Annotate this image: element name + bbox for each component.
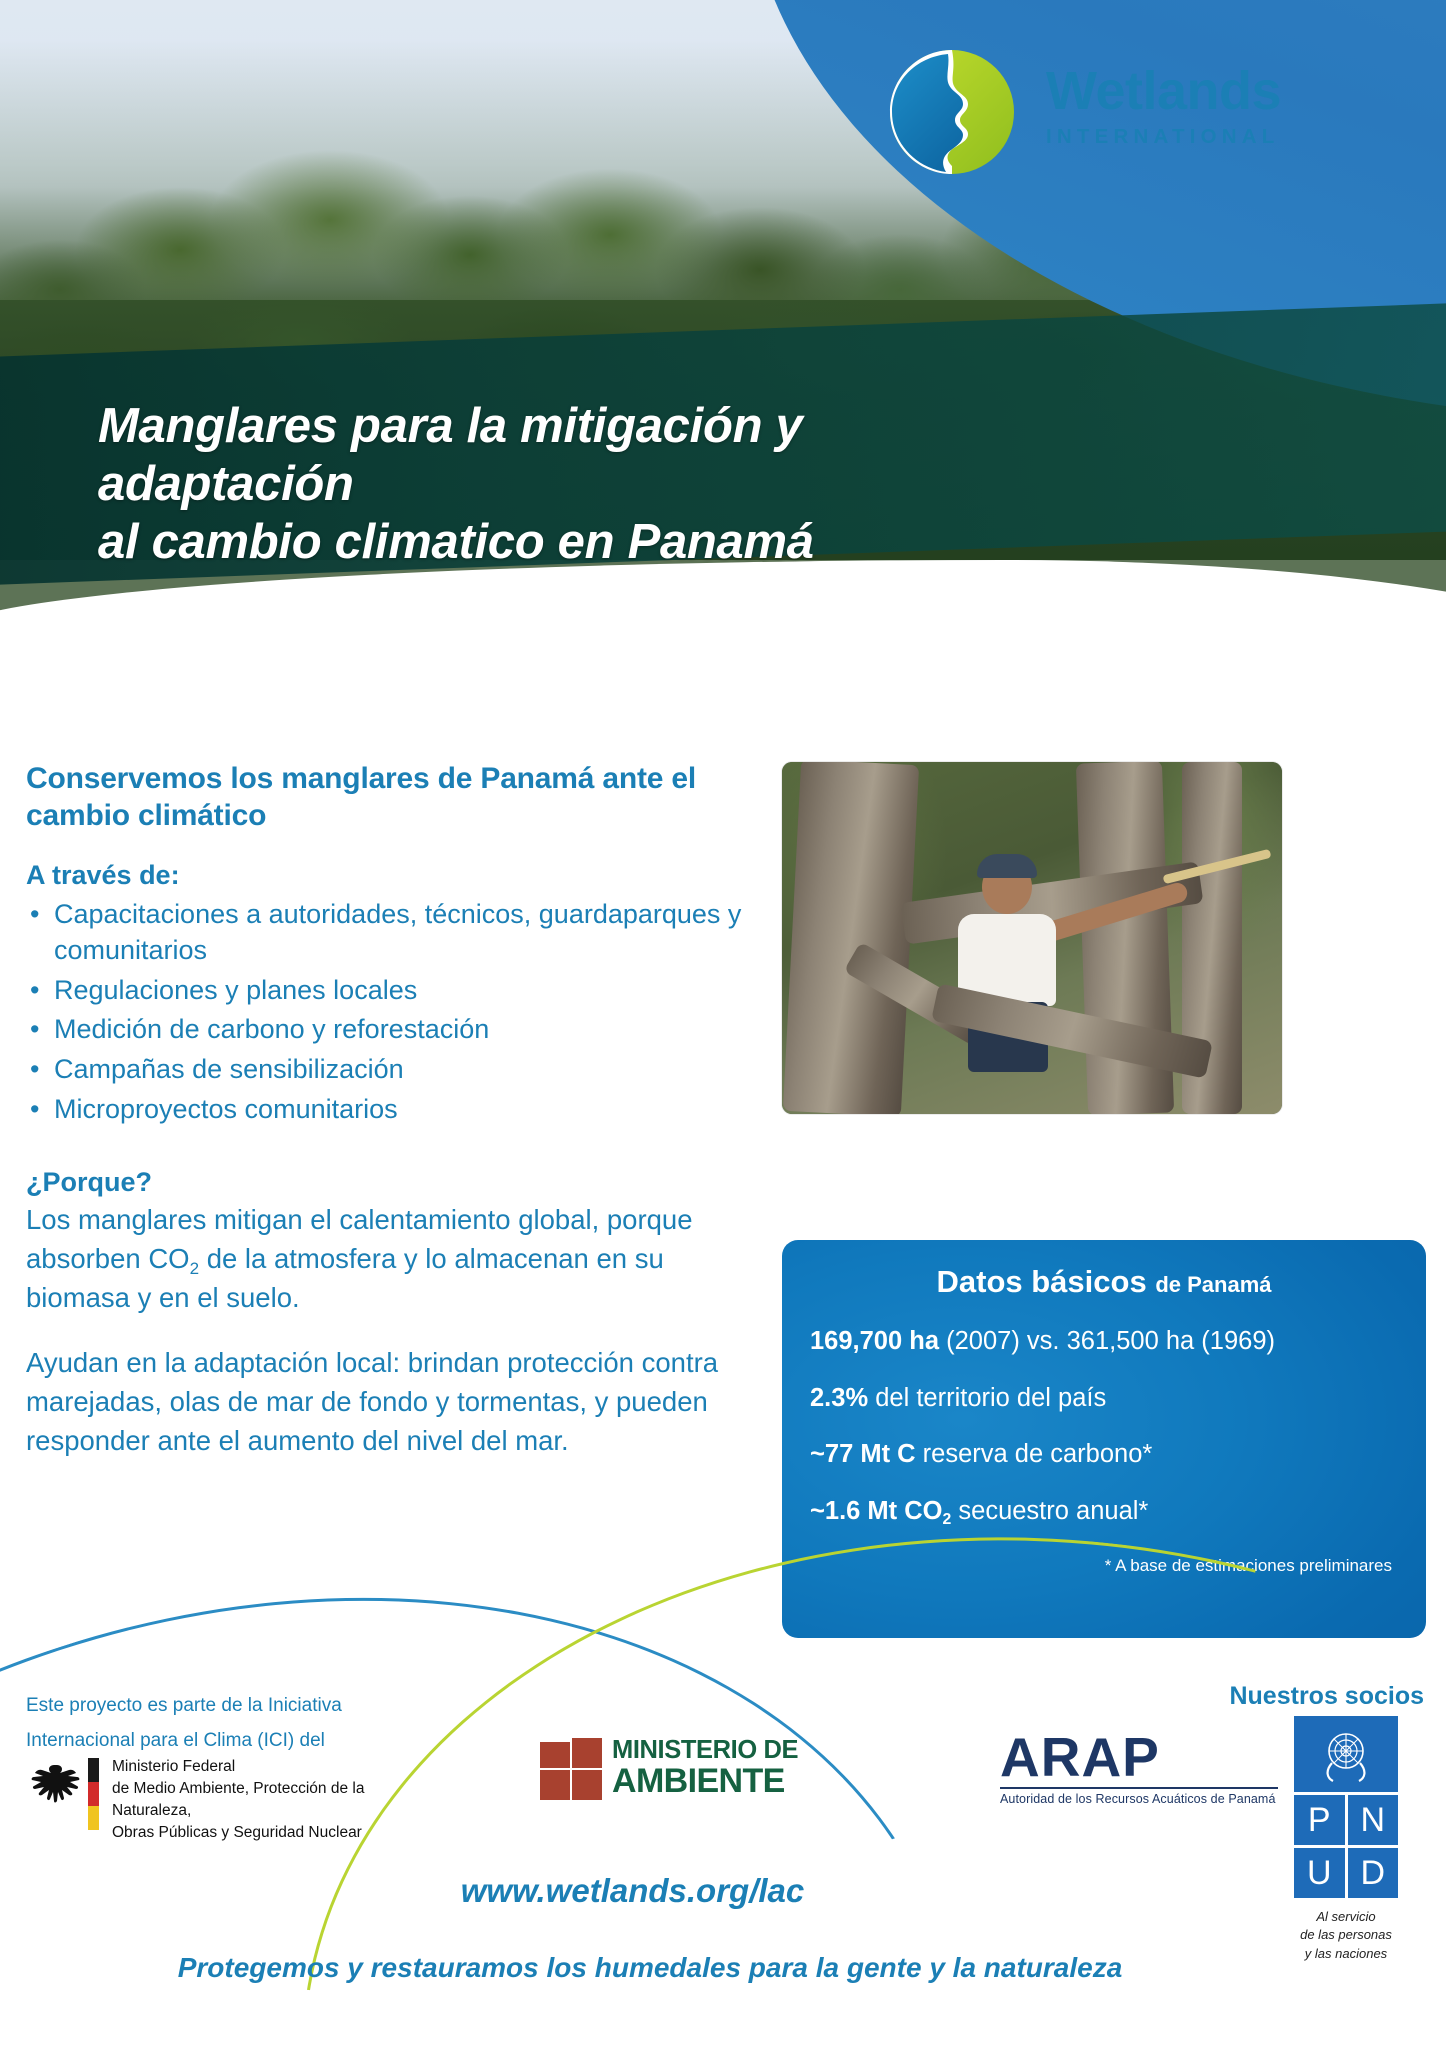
hero-white-curve: [0, 560, 1446, 745]
tree-trunk: [783, 762, 919, 1114]
datos-basicos-title: Datos básicos de Panamá: [810, 1264, 1398, 1300]
bundesadler-icon: [28, 1760, 80, 1816]
fish-tile-icon: [572, 1738, 602, 1768]
data-row-carbon-stock-label: reserva de carbono*: [916, 1440, 1153, 1468]
bird-tile-icon: [540, 1742, 570, 1768]
data-row-area-label: (2007) vs. 361,500 ha (1969): [939, 1327, 1275, 1355]
person-cap: [977, 854, 1037, 878]
list-item: Microproyectos comunitarios: [26, 1092, 746, 1128]
poster-root: Manglares para la mitigación y adaptació…: [0, 0, 1446, 2048]
co2-subscript: 2: [190, 1259, 199, 1278]
pnud-tagline-line-2: de las personas: [1291, 1926, 1401, 1944]
data-row-area-value: 169,700 ha: [810, 1327, 939, 1355]
data-row-area: 169,700 ha (2007) vs. 361,500 ha (1969): [810, 1326, 1398, 1357]
united-nations-emblem-icon: [1315, 1723, 1377, 1785]
arap-wordmark: ARAP: [1000, 1730, 1300, 1785]
ministerio-ambiente-line-1: MINISTERIO DE: [612, 1738, 798, 1763]
pnud-logo[interactable]: P N U D Al servicio de las personas y la…: [1294, 1716, 1402, 1906]
data-row-territory: 2.3% del territorio del país: [810, 1383, 1398, 1414]
page-title-line-2: al cambio climatico en Panamá: [98, 514, 1058, 572]
pnud-letter-d: D: [1348, 1848, 1399, 1898]
german-ministry-line-2: de Medio Ambiente, Protección de la Natu…: [112, 1778, 446, 1822]
why-paragraph-1: Los manglares mitigan el calentamiento g…: [26, 1200, 746, 1317]
pnud-letter-grid: P N U D: [1294, 1795, 1398, 1898]
poster-title-block: Manglares para la mitigación y adaptació…: [98, 398, 1058, 568]
pnud-tagline-line-3: y las naciones: [1291, 1945, 1401, 1963]
ici-credit-line-1: Este proyecto es parte de la Iniciativa: [26, 1688, 446, 1723]
data-row-carbon-stock: ~77 Mt C reserva de carbono*: [810, 1439, 1398, 1470]
wetlands-international-logo[interactable]: Wetlands INTERNATIONAL: [888, 48, 1358, 180]
ministerio-ambiente-mark-icon: [540, 1738, 602, 1800]
logo-wordmark: Wetlands: [1046, 64, 1281, 118]
page-title-line-1: Manglares para la mitigación y adaptació…: [98, 398, 1058, 514]
data-row-territory-label: del territorio del país: [868, 1384, 1106, 1412]
partners-label: Nuestros socios: [1229, 1682, 1424, 1711]
organization-tagline: Protegemos y restauramos los humedales p…: [0, 1952, 1300, 1984]
german-ministry-line-3: Obras Públicas y Seguridad Nuclear: [112, 1822, 446, 1844]
actions-bullet-list: Capacitaciones a autoridades, técnicos, …: [26, 897, 746, 1127]
datos-basicos-title-main: Datos básicos: [937, 1264, 1147, 1299]
list-item: Capacitaciones a autoridades, técnicos, …: [26, 897, 746, 968]
wetlands-logo-text: Wetlands INTERNATIONAL: [1046, 64, 1281, 149]
data-row-carbon-stock-value: ~77 Mt C: [810, 1440, 916, 1468]
pnud-tagline-line-1: Al servicio: [1291, 1908, 1401, 1926]
german-ministry-line-1: Ministerio Federal: [112, 1756, 446, 1778]
data-row-sequestration-value: ~1.6 Mt CO: [810, 1497, 943, 1525]
ministerio-de-ambiente-logo[interactable]: MINISTERIO DE AMBIENTE: [540, 1738, 830, 1806]
arap-subtitle: Autoridad de los Recursos Acuáticos de P…: [1000, 1792, 1300, 1806]
website-url-link[interactable]: www.wetlands.org/lac: [0, 1872, 1265, 1910]
ministerio-ambiente-text: MINISTERIO DE AMBIENTE: [612, 1738, 798, 1798]
datos-basicos-title-small: de Panamá: [1155, 1272, 1271, 1297]
pnud-letter-p: P: [1294, 1795, 1345, 1845]
footer: Este proyecto es parte de la Iniciativa …: [0, 1660, 1446, 2048]
list-item: Campañas de sensibilización: [26, 1052, 746, 1088]
left-content-column: Conservemos los manglares de Panamá ante…: [26, 760, 746, 1460]
hero-banner: Manglares para la mitigación y adaptació…: [0, 0, 1446, 745]
why-label: ¿Porque?: [26, 1167, 746, 1198]
data-row-territory-value: 2.3%: [810, 1384, 868, 1412]
un-emblem-panel: [1294, 1716, 1398, 1792]
pnud-tagline: Al servicio de las personas y las nacion…: [1291, 1908, 1401, 1963]
german-flag-bar-icon: [88, 1758, 99, 1830]
logo-subtitle: INTERNATIONAL: [1046, 125, 1281, 149]
german-ministry-name: Ministerio Federal de Medio Ambiente, Pr…: [112, 1756, 446, 1844]
pnud-letter-u: U: [1294, 1848, 1345, 1898]
why-paragraph-2: Ayudan en la adaptación local: brindan p…: [26, 1343, 746, 1460]
german-ministry-logo[interactable]: Ministerio Federal de Medio Ambiente, Pr…: [26, 1752, 446, 1842]
mangrove-measurement-photo: [782, 762, 1282, 1114]
leaf-tile-icon: [572, 1770, 602, 1800]
data-row-sequestration: ~1.6 Mt CO2 secuestro anual*: [810, 1496, 1398, 1527]
list-item: Medición de carbono y reforestación: [26, 1012, 746, 1048]
ministerio-ambiente-line-2: AMBIENTE: [612, 1765, 798, 1798]
german-eagle-icon: [28, 1760, 80, 1816]
data-row-sequestration-label: secuestro anual*: [951, 1497, 1148, 1525]
section-heading-conservemos: Conservemos los manglares de Panamá ante…: [26, 760, 746, 834]
arap-logo[interactable]: ARAP Autoridad de los Recursos Acuáticos…: [1000, 1730, 1300, 1812]
ici-credit-text: Este proyecto es parte de la Iniciativa …: [26, 1688, 446, 1758]
data-row-sequestration-subscript: 2: [943, 1511, 952, 1528]
wetlands-globe-face-icon: [888, 48, 1016, 176]
pnud-letter-n: N: [1348, 1795, 1399, 1845]
list-item: Regulaciones y planes locales: [26, 973, 746, 1009]
through-label: A través de:: [26, 860, 746, 891]
hand-tile-icon: [540, 1770, 570, 1800]
